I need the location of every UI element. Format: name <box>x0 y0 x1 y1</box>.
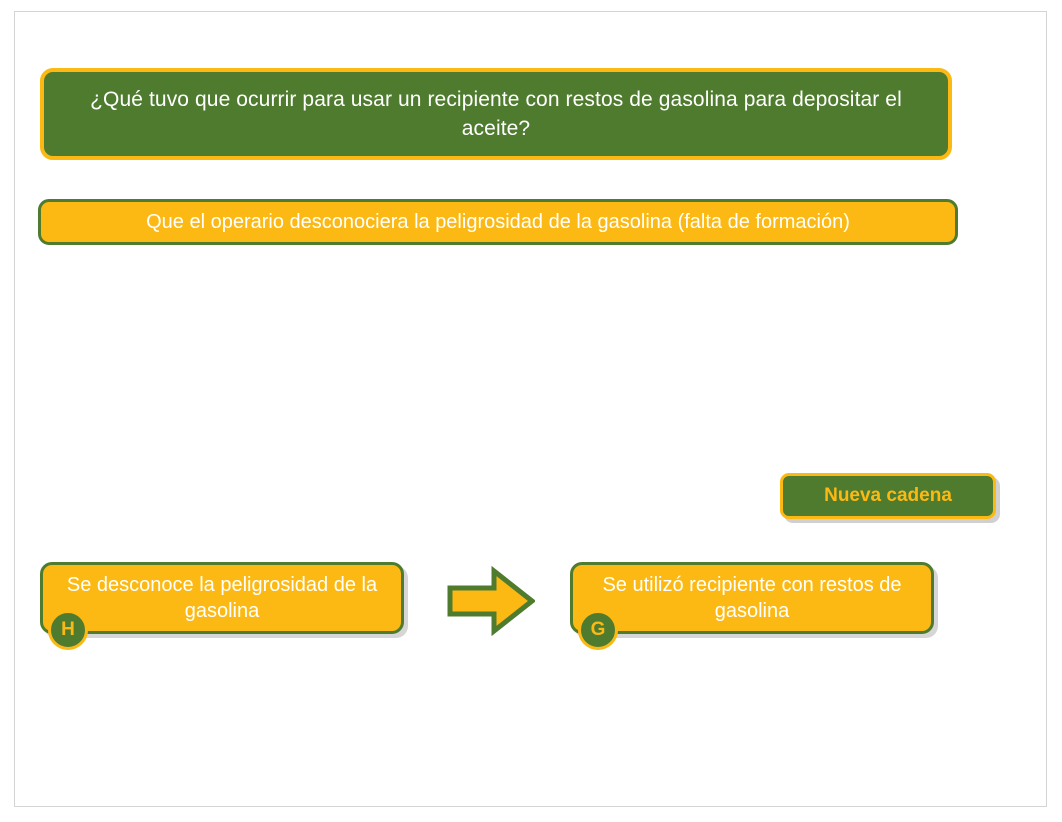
nueva-cadena-button[interactable]: Nueva cadena <box>780 473 996 519</box>
event-box-g[interactable]: Se utilizó recipiente con restos de gaso… <box>570 562 934 634</box>
question-banner-text: ¿Qué tuvo que ocurrir para usar un recip… <box>44 85 948 143</box>
event-badge-g[interactable]: G <box>578 610 618 650</box>
event-badge-h[interactable]: H <box>48 610 88 650</box>
arrow-right-icon <box>447 566 535 636</box>
event-badge-h-letter: H <box>61 620 75 640</box>
answer-bar: Que el operario desconociera la peligros… <box>38 199 958 245</box>
event-box-h[interactable]: Se desconoce la peligrosidad de la gasol… <box>40 562 404 634</box>
event-box-g-text: Se utilizó recipiente con restos de gaso… <box>573 572 931 624</box>
nueva-cadena-label: Nueva cadena <box>824 485 952 507</box>
slide-canvas: ¿Qué tuvo que ocurrir para usar un recip… <box>0 0 1062 822</box>
question-banner: ¿Qué tuvo que ocurrir para usar un recip… <box>40 68 952 160</box>
event-badge-g-letter: G <box>591 620 606 640</box>
answer-bar-text: Que el operario desconociera la peligros… <box>146 210 850 234</box>
event-box-h-text: Se desconoce la peligrosidad de la gasol… <box>43 572 401 624</box>
